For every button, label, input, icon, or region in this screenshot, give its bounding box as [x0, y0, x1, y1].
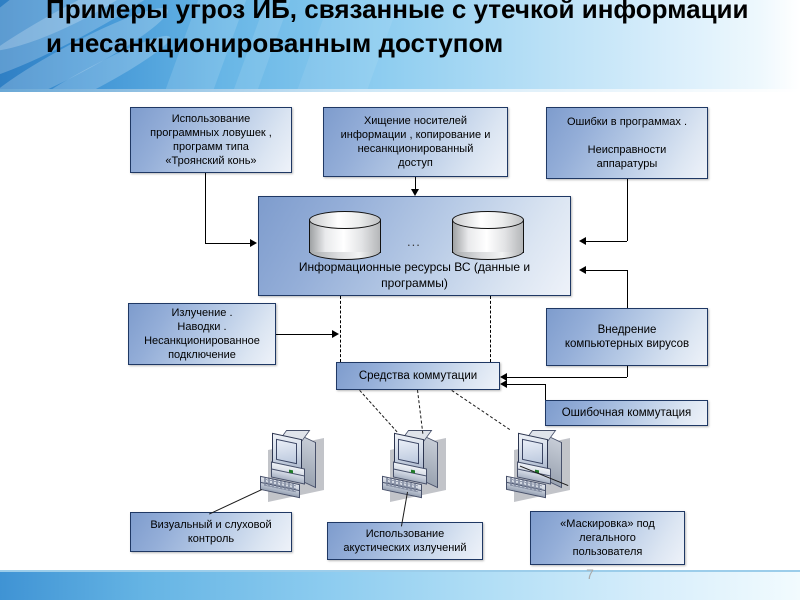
diagram-box-information-resources[interactable]: ... Информационные ресурсы ВС (данные и …	[258, 196, 571, 296]
connector-arrow-wrong-switching	[500, 380, 507, 388]
page-title: Примеры угроз ИБ, связанные с утечкой ин…	[46, 0, 766, 60]
connector-arrow-into-resources	[250, 239, 257, 247]
header-divider	[0, 89, 800, 92]
connector-traps-horizontal	[205, 243, 250, 244]
connector-radiation-horizontal	[276, 334, 332, 335]
diagram-box-media-theft[interactable]: Хищение носителей информации , копирован…	[323, 107, 508, 177]
connector-switching-to-workstation-3	[451, 390, 510, 430]
diagram-box-visual-audio-control[interactable]: Визуальный и слуховой контроль	[130, 512, 292, 552]
workstation-computer-icon	[258, 432, 332, 506]
connector-arrow-into-resources-top	[411, 189, 419, 196]
connector-viruses-to-switching	[507, 377, 627, 378]
workstation-computer-icon	[504, 432, 578, 506]
connector-viruses-down	[627, 366, 628, 377]
connector-wrong-switching-horizontal	[507, 384, 545, 385]
connector-arrow-into-resources-right-upper	[579, 237, 586, 245]
connector-theft-vertical	[415, 177, 416, 189]
page-number: 7	[578, 566, 602, 582]
connector-workstation1-to-visual-control	[209, 489, 262, 514]
connector-arrow-radiation	[332, 330, 339, 338]
presentation-slide: Примеры угроз ИБ, связанные с утечкой ин…	[0, 0, 800, 600]
workstation-computer-icon	[380, 432, 454, 506]
slide-footer-band	[0, 572, 800, 600]
connector-errors-vertical	[627, 179, 628, 241]
diagram-box-radiation[interactable]: Излучение . Наводки . Несанкционированно…	[128, 303, 276, 365]
database-cylinder-icon	[309, 211, 381, 259]
connector-viruses-vertical	[627, 270, 628, 308]
connector-dashed-resources-right	[490, 296, 491, 362]
connector-switching-to-workstation-2	[417, 390, 423, 434]
connector-arrow-into-resources-right-lower	[579, 266, 586, 274]
connector-switching-to-workstation-1	[359, 390, 397, 432]
connector-traps-vertical	[205, 173, 206, 243]
diagram-box-switching-equipment[interactable]: Средства коммутации	[336, 362, 500, 390]
diagram-box-program-traps[interactable]: Использование программных ловушек , прог…	[130, 107, 292, 173]
connector-dashed-resources-left	[340, 296, 341, 362]
connector-errors-horizontal	[586, 241, 627, 242]
diagram-box-computer-viruses[interactable]: Внедрение компьютерных вирусов	[546, 308, 708, 366]
diagram-box-masquerade[interactable]: «Маскировка» под легального пользователя	[530, 511, 685, 565]
connector-wrong-switching-vertical	[545, 384, 546, 400]
database-cylinder-icon	[452, 211, 524, 259]
resources-ellipsis: ...	[407, 235, 421, 249]
diagram-box-acoustic-emissions[interactable]: Использование акустических излучений	[327, 522, 483, 560]
resources-label: Информационные ресурсы ВС (данные и прог…	[259, 259, 570, 291]
diagram-box-program-errors[interactable]: Ошибки в программах . Неисправности аппа…	[546, 107, 708, 179]
connector-viruses-horizontal	[586, 270, 627, 271]
diagram-box-wrong-switching[interactable]: Ошибочная коммутация	[545, 400, 708, 426]
